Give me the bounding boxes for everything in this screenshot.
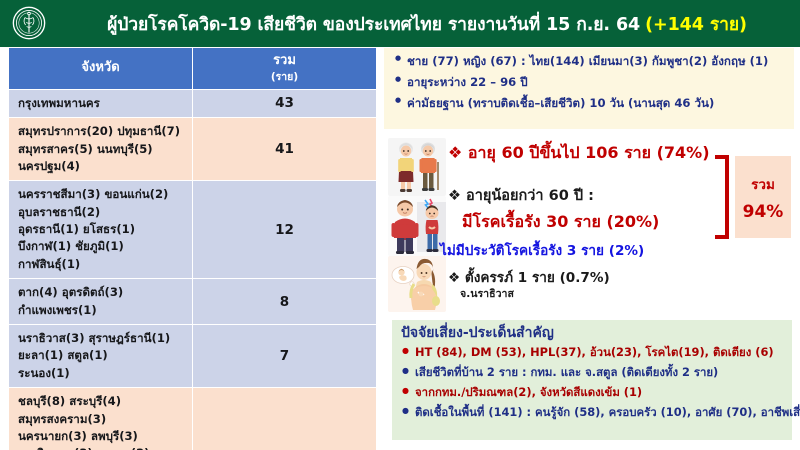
infographic-page: ผู้ป่วยโรคโควิด-19 เสียชีวิต ของประเทศไท…: [0, 0, 800, 450]
demographics-list: ชาย (77) หญิง (67) : ไทย(144) เมียนมา(3)…: [394, 55, 788, 109]
province-names-cell: นราธิวาส(3) สุราษฎร์ธานี(1) ยะลา(1) สตูล…: [9, 325, 193, 388]
sum-total-label: รวม: [751, 173, 775, 195]
risk-factors-title: ปัจจัยเสี่ยง-ประเด็นสำคัญ: [401, 325, 788, 343]
sum-bracket-decoration: [715, 155, 729, 239]
column-header-province: จังหวัด: [9, 48, 193, 90]
province-names-cell: กรุงเทพมหานคร: [9, 89, 193, 117]
column-header-total: รวม (ราย): [193, 48, 377, 90]
table-row: นราธิวาส(3) สุราษฎร์ธานี(1) ยะลา(1) สตูล…: [9, 325, 377, 388]
page-title: ผู้ป่วยโรคโควิด-19 เสียชีวิต ของประเทศไท…: [56, 0, 798, 47]
risk-factors-box: ปัจจัยเสี่ยง-ประเด็นสำคัญ HT (84), DM (5…: [392, 320, 792, 440]
age-breakdown-section: ❖ อายุ 60 ปีขึ้นไป 106 ราย (74%) ❖ อายุน…: [384, 132, 794, 314]
risk-factor-item: ติดเชื้อในพื้นที่ (141) : คนรู้จัก (58),…: [400, 406, 788, 419]
province-death-table: จังหวัด รวม (ราย) กรุงเทพมหานคร43สมุทรปร…: [8, 47, 377, 450]
table-header: จังหวัด รวม (ราย): [9, 48, 377, 90]
table-row: กรุงเทพมหานคร43: [9, 89, 377, 117]
province-names-cell: นครราชสีมา(3) ขอนแก่น(2) อุบลราชธานี(2)อ…: [9, 181, 193, 279]
column-header-total-unit: (ราย): [193, 70, 376, 84]
age-under-60-label: ❖ อายุน้อยกว่า 60 ปี :: [448, 184, 594, 207]
table-body: กรุงเทพมหานคร43สมุทรปราการ(20) ปทุมธานี(…: [9, 89, 377, 450]
province-names-cell: ชลบุรี(8) สระบุรี(4) สมุทรสงคราม(3)นครนา…: [9, 388, 193, 450]
table-row: ตาก(4) อุตรดิตถ์(3) กำแพงเพชร(1)8: [9, 279, 377, 325]
column-header-total-label: รวม: [273, 53, 296, 68]
table-row: ชลบุรี(8) สระบุรี(4) สมุทรสงคราม(3)นครนา…: [9, 388, 377, 450]
sum-total-value: 94%: [743, 202, 784, 222]
province-total-cell: 33: [193, 388, 377, 450]
risk-factor-item: จากกทม./ปริมณฑล(2), จังหวัดสีแดงเข้ม (1): [400, 386, 788, 399]
table-row: สมุทรปราการ(20) ปทุมธานี(7)สมุทรสาคร(5) …: [9, 118, 377, 181]
chronic-disease-stat: มีโรคเรื้อรัง 30 ราย (20%): [462, 210, 659, 235]
table-header-row: จังหวัด รวม (ราย): [9, 48, 377, 90]
province-total-cell: 41: [193, 118, 377, 181]
province-total-cell: 12: [193, 181, 377, 279]
header-bar: ผู้ป่วยโรคโควิด-19 เสียชีวิต ของประเทศไท…: [0, 0, 800, 47]
province-names-cell: ตาก(4) อุตรดิตถ์(3) กำแพงเพชร(1): [9, 279, 193, 325]
elderly-couple-icon: [388, 138, 446, 196]
demographics-item: ค่ามัธยฐาน (ทราบติดเชื้อ–เสียชีวิต) 10 ว…: [394, 97, 788, 110]
risk-factor-item: HT (84), DM (53), HPL(37), อ้วน(23), โรค…: [400, 346, 788, 359]
province-names-cell: สมุทรปราการ(20) ปทุมธานี(7)สมุทรสาคร(5) …: [9, 118, 193, 181]
demographics-item: ชาย (77) หญิง (67) : ไทย(144) เมียนมา(3)…: [394, 55, 788, 68]
province-total-cell: 8: [193, 279, 377, 325]
province-total-cell: 7: [193, 325, 377, 388]
pregnant-woman-icon: [388, 256, 446, 312]
age-60-plus-stat: ❖ อายุ 60 ปีขึ้นไป 106 ราย (74%): [448, 141, 710, 166]
no-chronic-history-stat: ไม่มีประวัติโรคเรื้อรัง 3 ราย (2%): [440, 239, 644, 261]
new-cases-count: (+144 ราย): [645, 10, 747, 38]
province-total-cell: 43: [193, 89, 377, 117]
header-title-text: ผู้ป่วยโรคโควิด-19 เสียชีวิต ของประเทศไท…: [107, 10, 640, 38]
obese-person-icon: [388, 196, 446, 256]
table-row: นครราชสีมา(3) ขอนแก่น(2) อุบลราชธานี(2)อ…: [9, 181, 377, 279]
ministry-of-public-health-emblem-icon: [12, 6, 46, 40]
risk-factor-item: เสียชีวิตที่บ้าน 2 ราย : กทม. และ จ.สตูล…: [400, 366, 788, 379]
sum-total-box: รวม 94%: [735, 156, 791, 238]
risk-factors-list: HT (84), DM (53), HPL(37), อ้วน(23), โรค…: [400, 346, 788, 419]
pregnant-province-label: จ.นราธิวาส: [460, 285, 514, 302]
demographics-item: อายุระหว่าง 22 – 96 ปี: [394, 76, 788, 89]
demographics-info-box: ชาย (77) หญิง (67) : ไทย(144) เมียนมา(3)…: [384, 48, 794, 129]
